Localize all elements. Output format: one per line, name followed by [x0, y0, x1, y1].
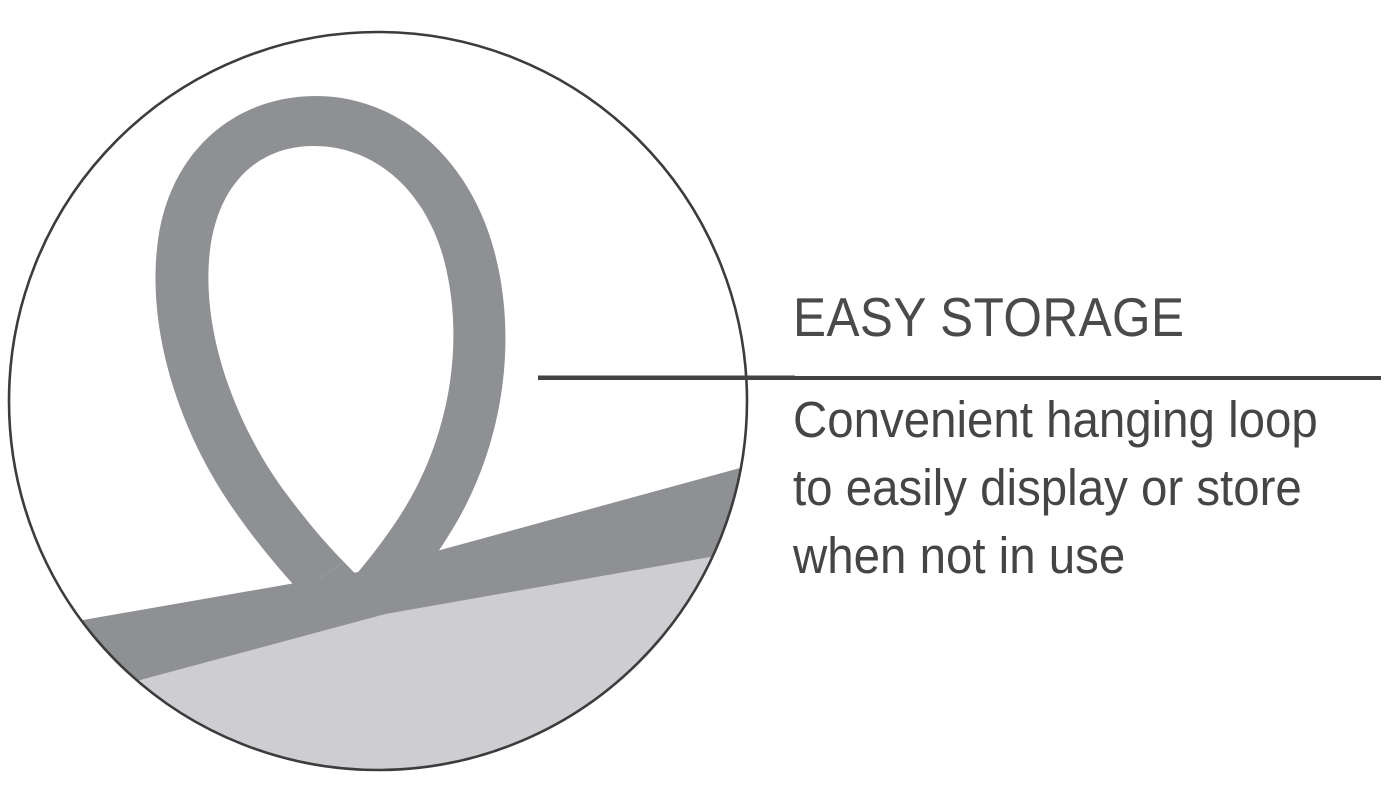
feature-description: Convenient hanging loop to easily displa…	[793, 348, 1345, 590]
feature-title: EASY STORAGE	[793, 286, 1328, 348]
callout-text-block: EASY STORAGE Convenient hanging loop to …	[793, 286, 1387, 590]
feature-description-line-2: to easily display or store	[793, 454, 1345, 522]
feature-description-line-3: when not in use	[793, 522, 1345, 590]
easy-storage-feature-callout: EASY STORAGE Convenient hanging loop to …	[0, 0, 1387, 805]
feature-description-line-1: Convenient hanging loop	[793, 386, 1345, 454]
